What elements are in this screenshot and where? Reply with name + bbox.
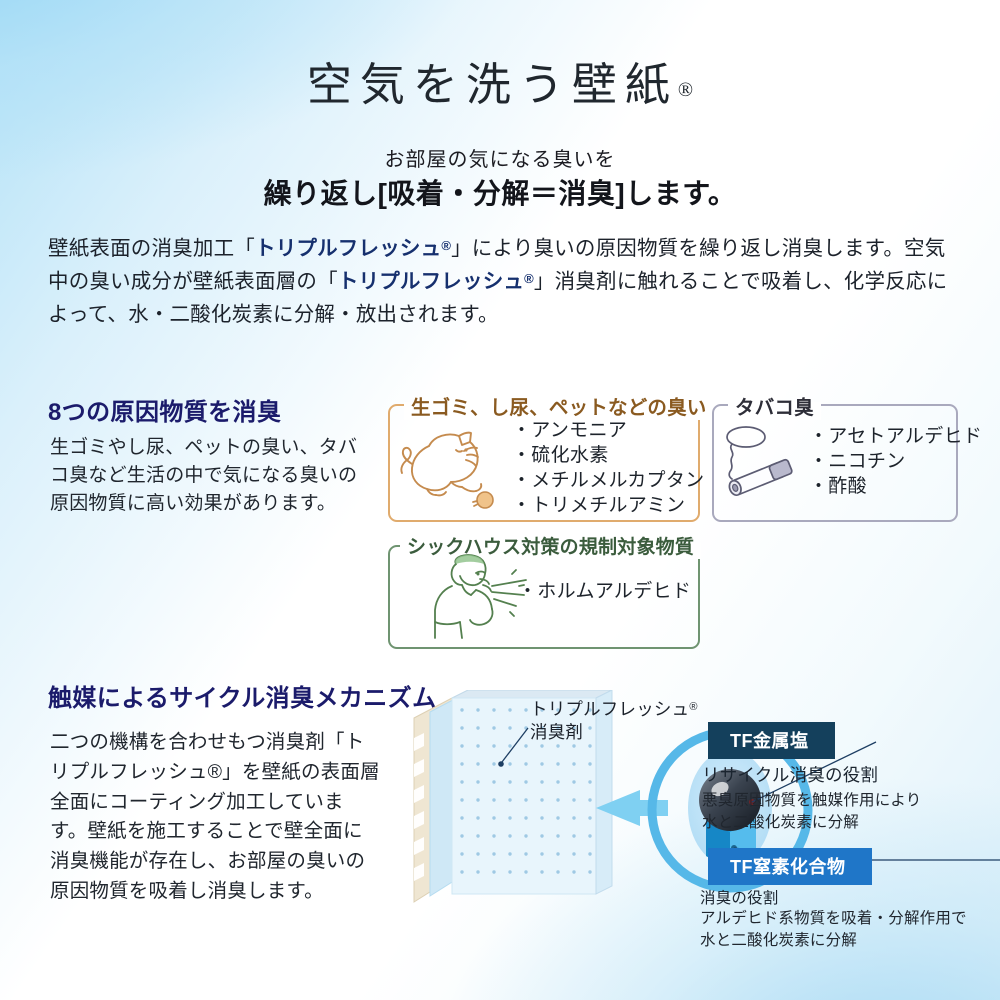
callout-brand-name: トリプルフレッシュ [530, 699, 689, 719]
infographic-page: 空気を洗う壁紙® お部屋の気になる臭いを 繰り返し[吸着・分解＝消臭]します。 … [0, 0, 1000, 1000]
coughing-person-icon [428, 552, 536, 640]
list-item: ・酢酸 [809, 474, 982, 499]
odor-box-tobacco-legend: タバコ臭 [728, 391, 821, 420]
odor-box-pet-items: ・アンモニア ・硫化水素 ・メチルメルカプタン ・トリメチルアミン [512, 418, 704, 518]
mechanism-section-description: 二つの機構を合わせもつ消臭剤「トリプルフレッシュ®」を壁紙の表面層全面にコーティ… [50, 728, 380, 907]
subtitle-large: 繰り返し[吸着・分解＝消臭]します。 [0, 172, 1000, 212]
cat-icon [396, 424, 508, 510]
odor-box-tobacco-items: ・アセトアルデヒド ・ニコチン ・酢酸 [809, 424, 982, 499]
list-item: ・トリメチルアミン [512, 493, 704, 518]
registered-mark-icon: ® [524, 271, 534, 286]
list-item: ・ニコチン [809, 449, 982, 474]
callout-deodorant-label: 消臭剤 [530, 722, 583, 742]
page-title-text: 空気を洗う壁紙 [307, 60, 678, 110]
odor-box-sickhouse-items: ・ホルムアルデヒド [518, 579, 691, 604]
brand-name-1: トリプルフレッシュ® [255, 237, 451, 260]
list-item: ・硫化水素 [512, 443, 704, 468]
registered-mark-icon: ® [689, 701, 697, 713]
cigarette-icon [716, 424, 808, 502]
badge-tf-nitrogen-compound: TF窒素化合物 [708, 848, 872, 885]
detail-line: 水と二酸化炭素に分解 [700, 930, 967, 952]
detail-line: 水と二酸化炭素に分解 [702, 812, 922, 834]
detail-line: アルデヒド系物質を吸着・分解作用で [700, 908, 967, 930]
list-item: ・ホルムアルデヒド [518, 579, 691, 604]
detail-line: 悪臭原因物質を触媒作用により [702, 790, 922, 812]
diagram-callout-label: トリプルフレッシュ® 消臭剤 [530, 698, 698, 744]
brand-name-2: トリプルフレッシュ® [338, 270, 534, 293]
mechanism-section-heading: 触媒によるサイクル消臭メカニズム [48, 678, 436, 713]
lead-text-1: 壁紙表面の消臭加工「 [48, 237, 255, 260]
registered-mark-icon: ® [441, 238, 451, 253]
list-item: ・アンモニア [512, 418, 704, 443]
odor-box-pet-legend: 生ゴミ、し尿、ペットなどの臭い [404, 391, 714, 420]
page-title: 空気を洗う壁紙® [0, 48, 1000, 113]
odor-section-heading: 8つの原因物質を消臭 [48, 392, 281, 427]
tf-nitrogen-role: 消臭の役割 [700, 886, 779, 908]
tf-metal-salt-role: リサイクル消臭の役割 [702, 762, 878, 787]
lead-paragraph: 壁紙表面の消臭加工「トリプルフレッシュ®」により臭いの原因物質を繰り返し消臭しま… [48, 232, 954, 332]
subtitle-small: お部屋の気になる臭いを [0, 143, 1000, 172]
tf-metal-salt-detail: 悪臭原因物質を触媒作用により 水と二酸化炭素に分解 [702, 790, 922, 834]
registered-trademark-icon: ® [678, 79, 693, 101]
tf-nitrogen-detail: アルデヒド系物質を吸着・分解作用で 水と二酸化炭素に分解 [700, 908, 967, 952]
list-item: ・アセトアルデヒド [809, 424, 982, 449]
badge-tf-metal-salt: TF金属塩 [708, 722, 835, 759]
odor-section-description: 生ゴミやし尿、ペットの臭い、タバコ臭など生活の中で気になる臭いの原因物質に高い効… [50, 434, 360, 518]
list-item: ・メチルメルカプタン [512, 468, 704, 493]
